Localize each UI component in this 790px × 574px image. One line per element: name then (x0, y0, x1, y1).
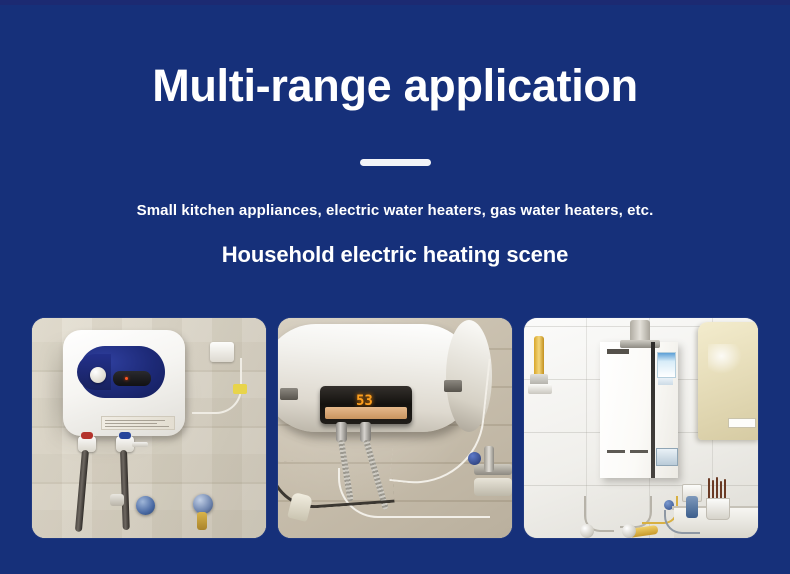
utensil-holder (706, 498, 730, 520)
photo-gas-water-heater (524, 318, 758, 538)
photo-electric-water-heater (32, 318, 266, 538)
floor-pipe-lower (474, 478, 512, 496)
steel-fitting (484, 446, 494, 472)
divider-wrapper (0, 153, 790, 171)
promo-banner: Multi-range application Small kitchen ap… (0, 0, 790, 574)
gallery-card-storage-water-heater[interactable]: 53 (278, 318, 512, 538)
pipe-fitting-left (580, 524, 594, 538)
photo-storage-water-heater: 53 (278, 318, 512, 538)
yellow-tag (233, 384, 247, 394)
display-window (113, 371, 151, 386)
spec-label (658, 378, 673, 385)
scene-heading: Household electric heating scene (0, 219, 790, 268)
product-label (101, 416, 175, 430)
inline-valve (110, 494, 124, 506)
front-stripe (651, 342, 655, 478)
gas-pipe (534, 336, 544, 378)
gas-heater-display (656, 448, 678, 466)
temperature-display: 53 (356, 394, 373, 408)
title-divider (360, 159, 431, 166)
power-led-icon (125, 377, 128, 380)
mounting-bracket-left (280, 388, 298, 400)
floor-valve-blue (136, 496, 155, 515)
blue-control-panel (79, 346, 165, 398)
blue-valve-handle (468, 452, 481, 465)
pipe-fitting-right (622, 524, 636, 538)
outlet-spout (132, 442, 148, 447)
wall-shutoff-valve (193, 494, 213, 514)
control-strip-left (607, 450, 625, 453)
control-strip-right (630, 450, 648, 453)
photo-gallery: 53 (32, 318, 758, 538)
gas-pipe-bracket (528, 384, 552, 394)
temperature-knob (90, 367, 106, 383)
brand-label (607, 349, 629, 354)
control-panel-trim (325, 407, 407, 419)
gallery-card-gas-water-heater[interactable] (524, 318, 758, 538)
gas-water-heater-body (600, 342, 678, 478)
water-heater-body (63, 330, 185, 436)
cabinet-label (728, 418, 756, 428)
page-title: Multi-range application (0, 0, 790, 110)
subtitle-text: Small kitchen appliances, electric water… (0, 171, 790, 219)
heading-block: Multi-range application Small kitchen ap… (0, 0, 790, 268)
gallery-card-electric-water-heater[interactable] (32, 318, 266, 538)
energy-label (657, 352, 676, 378)
